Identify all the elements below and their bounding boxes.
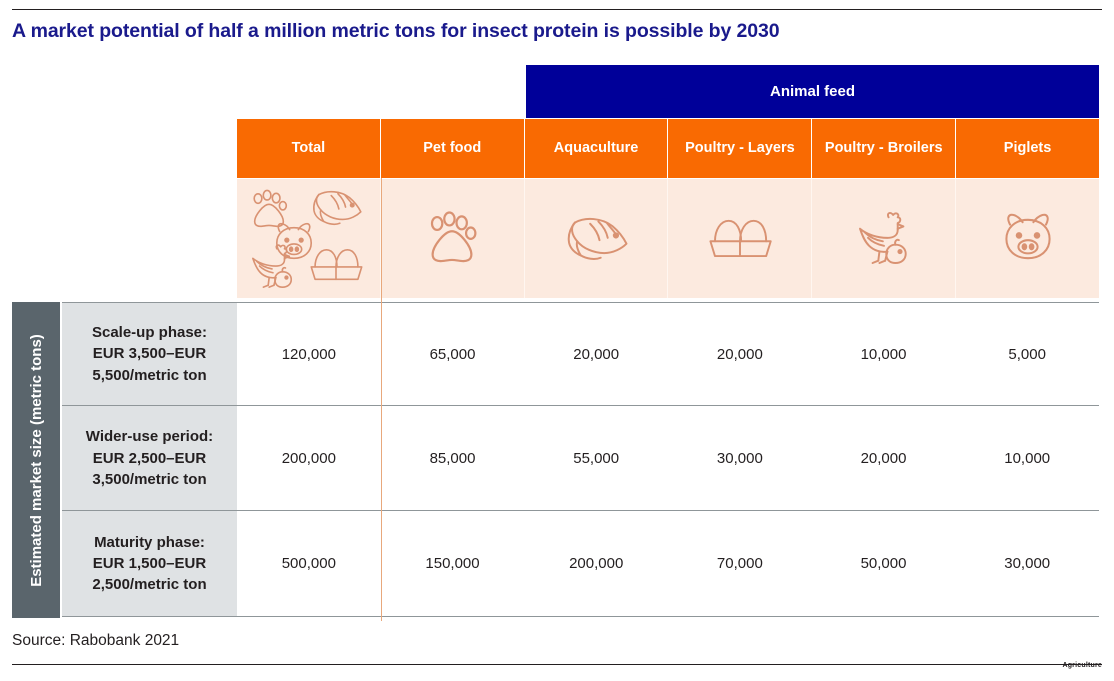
cell-aquaculture: 55,000	[524, 406, 668, 510]
row-label-line: 2,500/metric ton	[92, 574, 206, 595]
column-header-piglets[interactable]: Piglets	[956, 119, 1099, 178]
fish-icon	[562, 213, 630, 265]
row-label-line: 5,500/metric ton	[92, 365, 206, 386]
mixed-animals-icon	[246, 187, 370, 291]
market-size-table: Animal feed Total Pet food Aquaculture P…	[0, 0, 1114, 681]
row-values: 500,000 150,000 200,000 70,000 50,000 30…	[237, 511, 1099, 615]
row-label-line: EUR 2,500–EUR	[93, 448, 206, 469]
table-row: Maturity phase: EUR 1,500–EUR 2,500/metr…	[62, 511, 1099, 616]
table-body: Scale-up phase: EUR 3,500–EUR 5,500/metr…	[62, 302, 1099, 618]
column-header-poultry-layers[interactable]: Poultry - Layers	[668, 119, 812, 178]
icon-cell-poultry-layers	[668, 179, 812, 298]
row-label-maturity-phase: Maturity phase: EUR 1,500–EUR 2,500/metr…	[62, 511, 237, 615]
cell-poultry-layers: 20,000	[668, 303, 812, 405]
cell-aquaculture: 200,000	[524, 511, 668, 615]
icon-cell-poultry-broilers	[812, 179, 956, 298]
icon-cell-piglets	[956, 179, 1099, 298]
agriculture-logo: Agriculture	[1062, 662, 1102, 669]
cell-aquaculture: 20,000	[524, 303, 668, 405]
chicken-icon	[852, 210, 916, 268]
column-header-row: Total Pet food Aquaculture Poultry - Lay…	[237, 119, 1099, 178]
cell-poultry-broilers: 10,000	[812, 303, 956, 405]
row-label-line: Scale-up phase:	[92, 322, 207, 343]
cell-piglets: 10,000	[955, 406, 1099, 510]
row-values: 200,000 85,000 55,000 30,000 20,000 10,0…	[237, 406, 1099, 510]
group-header-animal-feed: Animal feed	[526, 65, 1099, 118]
cell-pet-food: 150,000	[381, 511, 525, 615]
paw-print-icon	[421, 210, 483, 268]
row-label-scale-up-phase: Scale-up phase: EUR 3,500–EUR 5,500/metr…	[62, 303, 237, 405]
cell-piglets: 5,000	[955, 303, 1099, 405]
column-header-total[interactable]: Total	[237, 119, 381, 178]
cell-pet-food: 85,000	[381, 406, 525, 510]
row-label-line: Maturity phase:	[94, 532, 205, 553]
cell-pet-food: 65,000	[381, 303, 525, 405]
row-label-line: EUR 1,500–EUR	[93, 553, 206, 574]
column-header-aquaculture[interactable]: Aquaculture	[525, 119, 669, 178]
cell-poultry-layers: 30,000	[668, 406, 812, 510]
column-header-pet-food[interactable]: Pet food	[381, 119, 525, 178]
chicken-icon	[246, 243, 300, 291]
row-label-line: Wider-use period:	[86, 426, 213, 447]
table-row: Scale-up phase: EUR 3,500–EUR 5,500/metr…	[62, 302, 1099, 406]
egg-carton-icon	[707, 215, 773, 263]
pig-head-icon	[998, 211, 1058, 267]
row-values: 120,000 65,000 20,000 20,000 10,000 5,00…	[237, 303, 1099, 405]
table-row: Wider-use period: EUR 2,500–EUR 3,500/me…	[62, 406, 1099, 511]
row-label-wider-use-period: Wider-use period: EUR 2,500–EUR 3,500/me…	[62, 406, 237, 510]
cell-total: 120,000	[237, 303, 381, 405]
icon-cell-total	[237, 179, 381, 298]
source-note: Source: Rabobank 2021	[12, 632, 179, 650]
cell-poultry-broilers: 20,000	[812, 406, 956, 510]
cell-total: 500,000	[237, 511, 381, 615]
icon-cell-aquaculture	[525, 179, 669, 298]
bottom-divider	[12, 664, 1102, 665]
row-label-line: 3,500/metric ton	[92, 469, 206, 490]
icon-cell-pet-food	[381, 179, 525, 298]
egg-carton-icon	[308, 245, 364, 285]
column-header-poultry-broilers[interactable]: Poultry - Broilers	[812, 119, 956, 178]
cell-poultry-layers: 70,000	[668, 511, 812, 615]
cell-poultry-broilers: 50,000	[812, 511, 956, 615]
axis-label-estimated-market-size: Estimated market size (metric tons)	[12, 302, 60, 618]
row-label-line: EUR 3,500–EUR	[93, 343, 206, 364]
cell-piglets: 30,000	[955, 511, 1099, 615]
group-header-label: Animal feed	[770, 83, 855, 100]
column-icon-row	[237, 179, 1099, 298]
cell-total: 200,000	[237, 406, 381, 510]
axis-label-text: Estimated market size (metric tons)	[28, 334, 45, 587]
total-column-divider	[381, 178, 382, 621]
